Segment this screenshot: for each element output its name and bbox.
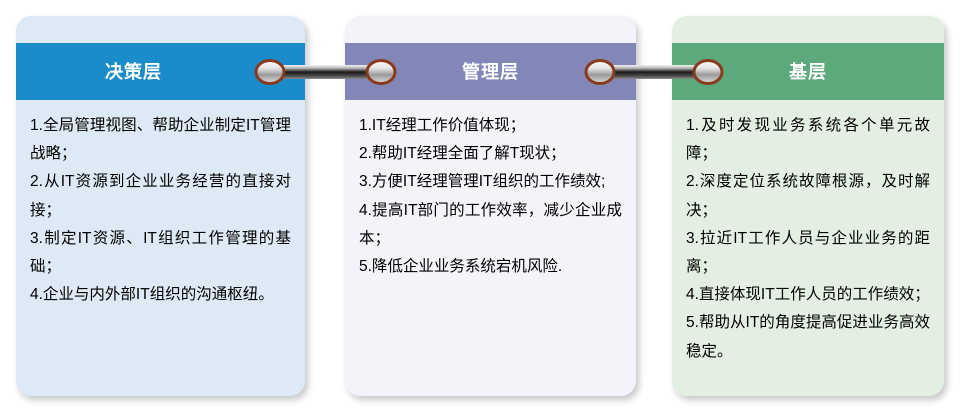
card-management-body: 1.IT经理工作价值体现； 2.帮助IT经理全面了解T现状； 3.方便IT经理管… [345,100,636,396]
list-item: 1.IT经理工作价值体现； [359,112,622,140]
list-item: 4.提高IT部门的工作效率，减少企业成本； [359,197,622,253]
list-item: 3.方便IT经理管理IT组织的工作绩效; [359,168,622,196]
dumbbell-link-icon [253,57,398,87]
card-management-title: 管理层 [462,63,519,81]
diagram-canvas: 决策层 1.全局管理视图、帮助企业制定IT管理战略； 2.从IT资源到企业业务经… [0,0,960,416]
list-item: 4.企业与内外部IT组织的沟通枢纽。 [30,281,291,309]
list-item: 1.及时发现业务系统各个单元故障； [686,112,930,168]
list-item: 3.拉近IT工作人员与企业业务的距离； [686,225,930,281]
list-item: 5.降低企业业务系统宕机风险. [359,253,622,281]
dumbbell-link-icon [583,57,725,87]
list-item: 2.帮助IT经理全面了解T现状； [359,140,622,168]
card-base-title: 基层 [789,63,827,81]
card-decision-body: 1.全局管理视图、帮助企业制定IT管理战略； 2.从IT资源到企业业务经营的直接… [16,100,305,396]
card-base-body: 1.及时发现业务系统各个单元故障； 2.深度定位系统故障根源，及时解决； 3.拉… [672,100,944,396]
list-item: 5.帮助从IT的角度提高促进业务高效稳定。 [686,309,930,365]
list-item: 2.深度定位系统故障根源，及时解决； [686,168,930,224]
list-item: 3.制定IT资源、IT组织工作管理的基础； [30,225,291,281]
list-item: 4.直接体现IT工作人员的工作绩效； [686,281,930,309]
card-decision-title: 决策层 [105,63,216,81]
list-item: 2.从IT资源到企业业务经营的直接对接； [30,168,291,224]
list-item: 1.全局管理视图、帮助企业制定IT管理战略； [30,112,291,168]
